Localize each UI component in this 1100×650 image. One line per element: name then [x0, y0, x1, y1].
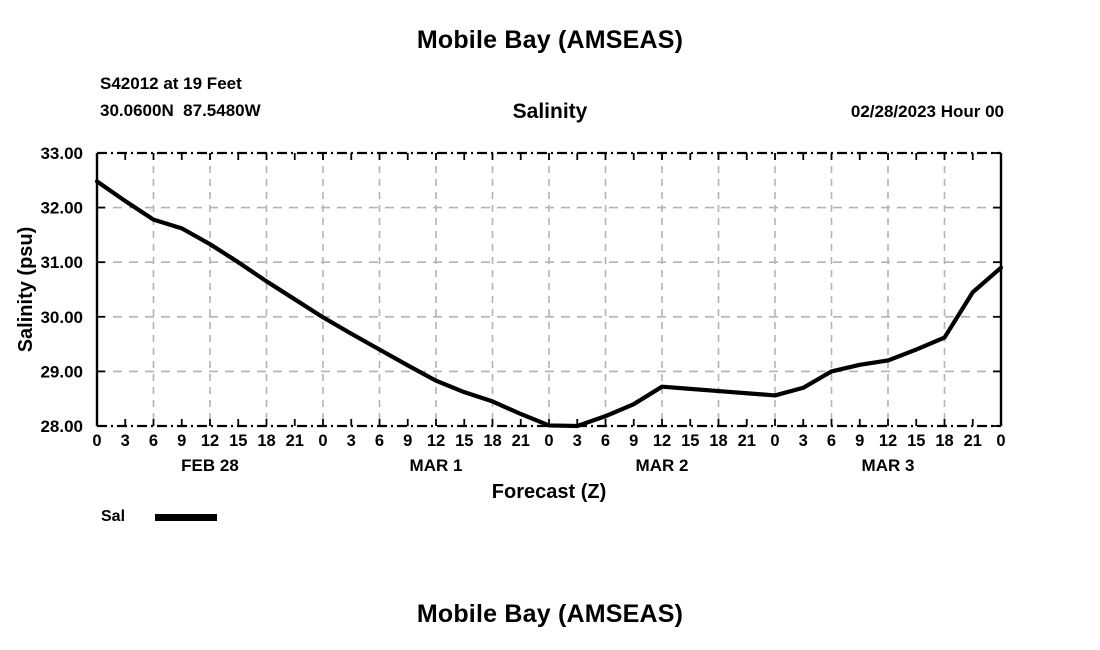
legend-entry-label: Sal	[101, 508, 155, 526]
ytick-label: 33.00	[40, 144, 83, 163]
xtick-label: 12	[427, 432, 445, 450]
xtick-label: 9	[177, 432, 186, 450]
x-axis-day-labels: FEB 28MAR 1MAR 2MAR 3	[181, 456, 914, 475]
salinity-line-chart: 0369121518210369121518210369121518210369…	[0, 0, 1100, 560]
xtick-label: 9	[629, 432, 638, 450]
xtick-label: 3	[121, 432, 130, 450]
axis-titles: Forecast (Z)Salinity (psu)	[15, 227, 606, 503]
xtick-label: 12	[653, 432, 671, 450]
chart-page: Mobile Bay (AMSEAS) S42012 at 19 Feet 30…	[0, 0, 1100, 650]
y-axis-tick-labels: 28.0029.0030.0031.0032.0033.00	[40, 144, 83, 436]
xtick-label: 0	[544, 432, 553, 450]
xtick-label: 9	[855, 432, 864, 450]
xtick-label: 0	[92, 432, 101, 450]
xtick-label: 6	[375, 432, 384, 450]
ytick-label: 32.00	[40, 199, 83, 218]
xtick-label: 15	[907, 432, 925, 450]
legend-swatch-sal	[155, 514, 217, 521]
chart-legend: Sal	[101, 508, 217, 526]
xtick-label: 18	[483, 432, 501, 450]
y-axis-title: Salinity (psu)	[15, 227, 37, 353]
xtick-label: 9	[403, 432, 412, 450]
xtick-label: 6	[827, 432, 836, 450]
xtick-label: 6	[149, 432, 158, 450]
ytick-label: 28.00	[40, 417, 83, 436]
x-day-label: MAR 2	[636, 456, 689, 475]
xtick-label: 21	[964, 432, 982, 450]
ytick-label: 30.00	[40, 308, 83, 327]
ytick-label: 29.00	[40, 362, 83, 381]
xtick-label: 6	[601, 432, 610, 450]
xtick-label: 0	[996, 432, 1005, 450]
xtick-label: 21	[286, 432, 304, 450]
xtick-label: 18	[709, 432, 727, 450]
x-day-label: MAR 3	[862, 456, 915, 475]
xtick-label: 0	[318, 432, 327, 450]
xtick-label: 21	[512, 432, 530, 450]
x-axis-title: Forecast (Z)	[492, 481, 606, 503]
page-title-bottom: Mobile Bay (AMSEAS)	[0, 600, 1100, 629]
xtick-label: 21	[738, 432, 756, 450]
gridlines-layer	[97, 153, 1001, 426]
xtick-label: 12	[879, 432, 897, 450]
xtick-label: 18	[935, 432, 953, 450]
xtick-label: 15	[229, 432, 247, 450]
xtick-label: 3	[347, 432, 356, 450]
xtick-label: 3	[799, 432, 808, 450]
xtick-label: 15	[681, 432, 699, 450]
x-day-label: FEB 28	[181, 456, 239, 475]
ytick-label: 31.00	[40, 253, 83, 272]
xtick-label: 18	[257, 432, 275, 450]
xtick-label: 12	[201, 432, 219, 450]
x-axis-tick-labels: 0369121518210369121518210369121518210369…	[92, 432, 1005, 450]
xtick-label: 15	[455, 432, 473, 450]
x-day-label: MAR 1	[410, 456, 463, 475]
xtick-label: 0	[770, 432, 779, 450]
xtick-label: 3	[573, 432, 582, 450]
